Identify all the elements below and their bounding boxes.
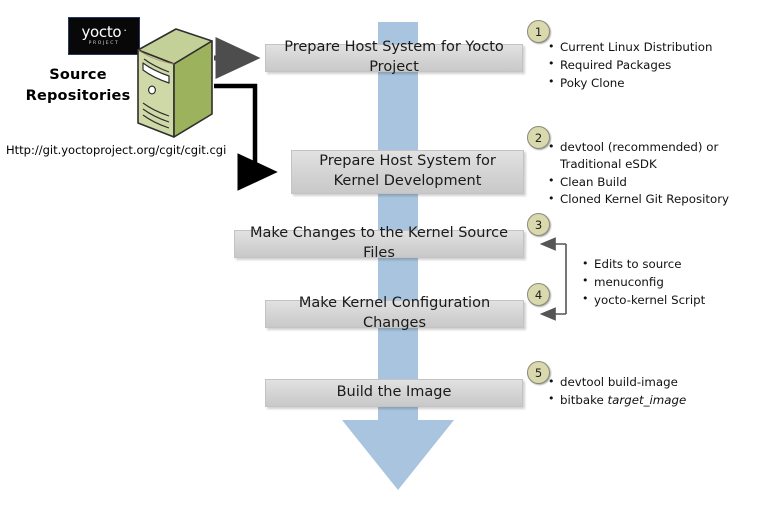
logo-wordmark: yocto· [81,25,126,40]
step-number-badge-3: 3 [527,213,550,236]
yocto-project-logo: yocto· PROJECT [68,17,140,55]
list-item: bitbake target_image [548,392,763,409]
source-repositories-label: Source Repositories [18,65,138,107]
list-item: Clean Build [548,174,758,191]
list-item: Poky Clone [548,75,763,92]
process-box-step-5[interactable]: Build the Image [265,379,523,407]
list-item: yocto-kernel Script [582,292,762,309]
bullet-list-steps-3-and-4: Edits to source menuconfig yocto-kernel … [582,256,762,309]
step-number-badge-2: 2 [527,126,550,149]
bullet-list-step-1: Current Linux Distribution Required Pack… [548,39,763,92]
bitbake-target-argument: target_image [608,393,687,407]
bracket-to-step3-and-step4 [543,244,566,314]
bullet-list-step-5: devtool build-image bitbake target_image [548,374,763,410]
source-label-line2: Repositories [18,86,138,107]
process-box-step-2[interactable]: Prepare Host System for Kernel Developme… [291,150,524,194]
arrow-server-to-step2 [214,86,271,172]
step-number-badge-4: 4 [527,283,550,306]
step-number-badge-5: 5 [527,361,550,384]
list-item: devtool build-image [548,374,763,391]
bullet-list-step-2: devtool (recommended) or Traditional eSD… [548,139,758,209]
list-item: devtool (recommended) or Traditional eSD… [548,139,758,173]
logo-subtitle: PROJECT [89,42,120,47]
list-item: Cloned Kernel Git Repository [548,191,758,208]
source-repository-url: Http://git.yoctoproject.org/cgit/cgit.cg… [6,143,226,157]
source-label-line1: Source [18,65,138,86]
diagram-canvas: yocto· PROJECT Source Repositories Http:… [0,0,769,517]
list-item: Required Packages [548,57,763,74]
process-box-step-1[interactable]: Prepare Host System for Yocto Project [265,44,523,72]
step-number-badge-1: 1 [527,20,550,43]
process-box-step-3[interactable]: Make Changes to the Kernel Source Files [234,230,524,258]
list-item: Edits to source [582,256,762,273]
logo-dot: · [123,24,126,37]
list-item: menuconfig [582,274,762,291]
list-item: Current Linux Distribution [548,39,763,56]
process-box-step-4[interactable]: Make Kernel Configuration Changes [265,300,524,328]
server-tower-icon [134,27,214,140]
bitbake-command: bitbake [560,393,608,407]
